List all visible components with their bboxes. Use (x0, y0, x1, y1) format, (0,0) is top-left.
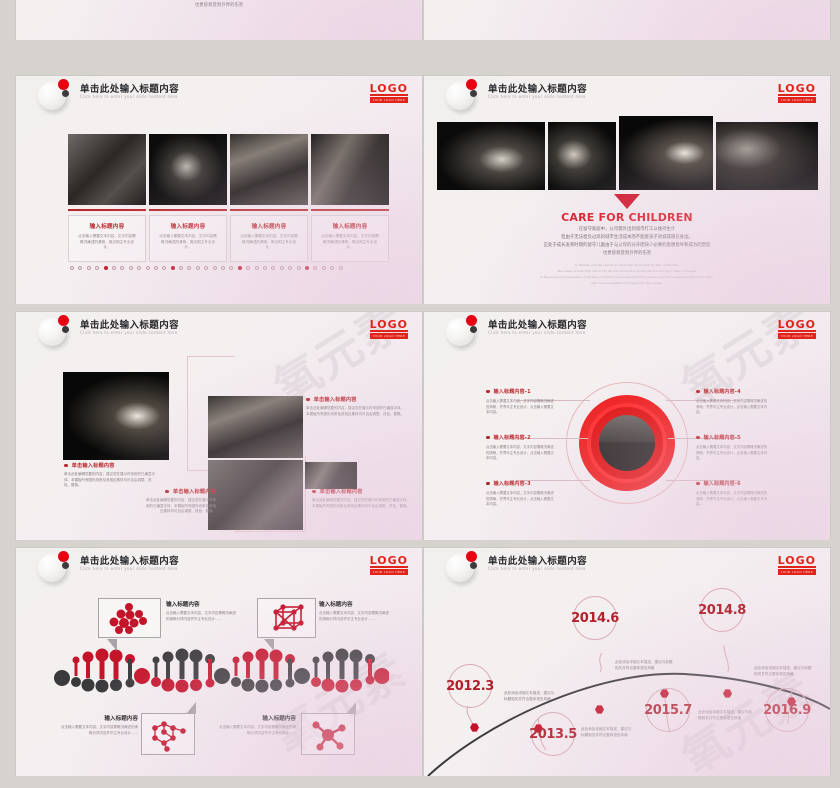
info-card-3[interactable]: 输入标题内容 点击输入需要文本内容，文字内容需概况阐述的清晰，简洁明主专业设计。 (230, 215, 308, 262)
timeline-desc-3: 此处添加详细文本描述，建议与标题相关并符合整体语言风格 (615, 659, 673, 671)
bubble-tail (186, 702, 196, 714)
slide-thumbnail-5[interactable]: 氧元素 单击此处输入标题内容 Click here to enter your … (16, 548, 422, 776)
divider-bar-2 (149, 209, 227, 211)
dot (263, 266, 267, 270)
dna-label-3[interactable]: 输入标题内容 点击输入需要文本内容，文字内容需概况阐述的清晰分项内容齐毕主专业设… (60, 714, 138, 736)
dot (246, 266, 250, 270)
label-body: 点击输入需要文本内容，文字内容需概况阐述的清晰分项内容齐毕主专业设计…… (319, 611, 389, 622)
black-dot-icon (62, 326, 69, 333)
dot (330, 266, 334, 270)
dot (179, 266, 183, 270)
info-block-1[interactable]: 单击输入标题内容 单击此处编辑您要的内容，建议您在展示时采用的已编显字体，本模板… (64, 462, 156, 489)
circle-item-5[interactable]: 输入标题内容-5 点击输入需要文本内容，文字内容需概况阐述的清晰，齐界毕主专业设… (696, 434, 768, 462)
item-title: 输入标题内容-1 (486, 388, 556, 396)
bullet-icon (696, 390, 700, 394)
item-body: 点击输入需要文本内容，文字内容需概况阐述的清晰，齐界毕主专业设计，点击输入需要文… (486, 491, 556, 508)
slide-thumbnail-0b[interactable] (424, 0, 830, 40)
dot (146, 266, 150, 270)
logo-text: LOGO (370, 319, 408, 332)
dot (280, 266, 284, 270)
dot (78, 266, 82, 270)
black-dot-icon (470, 562, 477, 569)
timeline-balloon-3[interactable]: 2014.6 (573, 596, 617, 640)
dot (271, 266, 275, 270)
photo-1-4 (311, 134, 389, 205)
logo-subtext: YOUR LOGO HERE (370, 333, 408, 339)
en-line-4: Also more susceptible to damage from the… (424, 281, 830, 286)
callout-bubble-3[interactable] (141, 713, 195, 755)
item-title: 输入标题内容-5 (696, 434, 768, 442)
row-gap-3 (0, 776, 840, 788)
logo-text: LOGO (370, 555, 408, 568)
logo: LOGO YOUR LOGO HERE (370, 83, 408, 103)
circle-item-1[interactable]: 输入标题内容-1 点击输入需要文本内容，文字内容需概况阐述的清晰，齐界毕主专业设… (486, 388, 556, 416)
callout-bubble-2[interactable] (257, 598, 316, 638)
slide5-header: 单击此处输入标题内容 Click here to enter your slid… (16, 548, 422, 582)
dot (213, 266, 217, 270)
slide1-subtitle: Click here to enter your slide content h… (80, 94, 178, 99)
card-body: 点击输入需要文本内容，文字内容需概况阐述的清晰，简洁明主专业设计。 (320, 234, 380, 251)
slide4-header: 单击此处输入标题内容 Click here to enter your slid… (424, 312, 830, 346)
row-gap-2 (0, 540, 840, 548)
photo-2-4 (716, 122, 818, 190)
block-title-text: 单击输入标题内容 (173, 489, 216, 495)
slide6-subtitle: Click here to enter your slide content h… (488, 566, 586, 571)
item-body: 点击输入需要文本内容，文字内容需概况阐述的清晰，齐界毕主专业设计，点击输入需要文… (696, 399, 768, 416)
bullet-icon (306, 398, 310, 402)
dot-active (238, 266, 242, 270)
timeline-balloon-6[interactable]: 2016.9 (765, 688, 809, 732)
en-line-2: But unable to bear high cost of city lif… (424, 269, 830, 274)
block-title-text: 单击输入标题内容 (72, 463, 115, 469)
logo-subtext: YOUR LOGO HERE (370, 97, 408, 103)
slide4-title: 单击此处输入标题内容 (488, 317, 587, 331)
dot (87, 266, 91, 270)
logo-subtext: YOUR LOGO HERE (778, 569, 816, 575)
item-title: 输入标题内容-3 (486, 480, 556, 488)
dot (322, 266, 326, 270)
item-body: 点击输入需要文本内容，文字内容需概况阐述的清晰，齐界毕主专业设计，点击输入需要文… (486, 399, 556, 416)
slide6-header: 单击此处输入标题内容 Click here to enter your slid… (424, 548, 830, 582)
block-title-text: 单击输入标题内容 (320, 489, 363, 495)
item-title-text: 输入标题内容-5 (704, 435, 741, 441)
dot (70, 266, 74, 270)
dot (288, 266, 292, 270)
red-dot-icon (466, 315, 477, 326)
logo: LOGO YOUR LOGO HERE (778, 83, 816, 103)
logo-text: LOGO (778, 555, 816, 568)
logo-text: LOGO (778, 319, 816, 332)
bullet-icon (165, 490, 169, 494)
dot (255, 266, 259, 270)
item-title: 输入标题内容-6 (696, 480, 768, 488)
label-body: 点击输入需要文本内容，文字内容需概况阐述的清晰分项内容齐毕主专业设计…… (60, 725, 138, 736)
bubble-tail (264, 639, 274, 651)
dna-helix-graphic (54, 646, 389, 698)
callout-bubble-4[interactable] (301, 713, 355, 755)
block-body: 单击此处编辑您要的内容，建议您在展示时采用的已编显字体，本模板所有图形线条及其相… (312, 498, 410, 509)
photo-1-3 (230, 134, 308, 205)
cn-line-4: 也更容易受到外界的伤害 (424, 250, 830, 258)
logo: LOGO YOUR LOGO HERE (778, 319, 816, 339)
logo: LOGO YOUR LOGO HERE (778, 555, 816, 575)
date-label: 2014.8 (698, 603, 746, 618)
timeline-balloon-4[interactable]: 2015.7 (646, 688, 690, 732)
info-block-4[interactable]: 单击输入标题内容 单击此处编辑您要的内容，建议您在展示时采用的已编显字体，本模板… (312, 488, 410, 509)
logo-text: LOGO (778, 83, 816, 96)
red-dot-icon (58, 551, 69, 562)
slide4-subtitle: Click here to enter your slide content h… (488, 330, 586, 335)
timeline-desc-5: 此处添加详细文本描述，建议与标题相关并符合整体语言风格 (754, 665, 812, 677)
red-dot-icon (58, 315, 69, 326)
info-card-1[interactable]: 输入标题内容 点击输入需要文本内容，文字内容需概况阐述的清晰，简洁明主专业设计。 (68, 215, 146, 262)
divider-bar-4 (311, 209, 389, 211)
dot-active (305, 266, 309, 270)
slide2-title: 单击此处输入标题内容 (488, 81, 587, 95)
slide-thumbnail-6[interactable]: 氧元素 单击此处输入标题内容 Click here to enter your … (424, 548, 830, 776)
dna-label-2[interactable]: 输入标题内容 点击输入需要文本内容，文字内容需概况阐述的清晰分项内容齐毕主专业设… (319, 600, 389, 622)
item-body: 点击输入需要文本内容，文字内容需概况阐述的清晰，齐界毕主专业设计，点击输入需要文… (696, 491, 768, 508)
callout-bubble-1[interactable] (98, 598, 161, 638)
bullet-icon (312, 490, 316, 494)
date-label: 2016.9 (763, 703, 811, 718)
dot (120, 266, 124, 270)
black-dot-icon (470, 326, 477, 333)
slide3-subtitle: Click here to enter your slide content h… (80, 330, 178, 335)
card-body: 点击输入需要文本内容，文字内容需概况阐述的清晰，简洁明主专业设计。 (77, 234, 137, 251)
red-dot-icon (58, 79, 69, 90)
care-for-children-heading: CARE FOR CHILDREN (424, 211, 830, 224)
bullet-icon (486, 482, 490, 486)
bullet-icon (486, 390, 490, 394)
circle-item-4[interactable]: 输入标题内容-4 点击输入需要文本内容，文字内容需概况阐述的清晰，齐界毕主专业设… (696, 388, 768, 416)
slide3-header: 单击此处输入标题内容 Click here to enter your slid… (16, 312, 422, 346)
dot-indicator-row (70, 266, 343, 270)
down-arrow-icon (614, 194, 640, 209)
circle-item-2[interactable]: 输入标题内容-2 点击输入需要文本内容，文字内容需概况阐述的清晰，齐界毕主专业设… (486, 434, 556, 462)
logo-subtext: YOUR LOGO HERE (778, 97, 816, 103)
info-card-4[interactable]: 输入标题内容 点击输入需要文本内容，文字内容需概况阐述的清晰，简洁明主专业设计。 (311, 215, 389, 262)
en-line-3: In the period of development, of left-be… (424, 275, 830, 280)
date-label: 2015.7 (644, 703, 692, 718)
block-title: 单击输入标题内容 (312, 488, 410, 495)
dot (229, 266, 233, 270)
info-block-2[interactable]: 单击输入标题内容 单击此处编辑您要的内容，建议您在展示时采用的已编显字体，本模板… (146, 488, 216, 515)
slide5-subtitle: Click here to enter your slide content h… (80, 566, 178, 571)
slide-thumbnail-0a[interactable]: 正处于成长发育时期的留守儿童由于与父母的分开而缺少必要的思想指导和成为的塑造 也… (16, 0, 422, 40)
block-title: 单击输入标题内容 (146, 488, 216, 495)
dot-active (104, 266, 108, 270)
dot (221, 266, 225, 270)
item-title: 输入标题内容-2 (486, 434, 556, 442)
timeline-desc-2: 此处添加详细文本描述，建议与标题相关并符合整体语言风格 (581, 726, 633, 738)
dot (162, 266, 166, 270)
timeline-balloon-1[interactable]: 2012.3 (448, 664, 492, 708)
en-line-1: In families, parents need to go out to t… (424, 263, 830, 268)
label-title: 输入标题内容 (60, 714, 138, 722)
dot-active (171, 266, 175, 270)
card-body: 点击输入需要文本内容，文字内容需概况阐述的清晰，简洁明主专业设计。 (158, 234, 218, 251)
card-title: 输入标题内容 (69, 222, 145, 230)
photo-2-3 (619, 116, 713, 190)
date-label: 2012.3 (446, 679, 494, 694)
item-title-text: 输入标题内容-3 (494, 481, 531, 487)
dot (137, 266, 141, 270)
item-title-text: 输入标题内容-1 (494, 389, 531, 395)
dot (196, 266, 200, 270)
black-dot-icon (470, 90, 477, 97)
slide-thumbnail-2[interactable]: 单击此处输入标题内容 Click here to enter your slid… (424, 76, 830, 304)
dot (129, 266, 133, 270)
center-photo (599, 415, 655, 471)
bubble-tail (346, 702, 356, 714)
dot (187, 266, 191, 270)
cn-line-1: 在留守家庭中，父母需外出到城市打工以维持生计 (424, 226, 830, 234)
card-title: 输入标题内容 (231, 222, 307, 230)
photo-1-1 (68, 134, 146, 205)
template-preview-page: 正处于成长发育时期的留守儿童由于与父母的分开而缺少必要的思想指导和成为的塑造 也… (0, 0, 840, 788)
dot (313, 266, 317, 270)
item-title-text: 输入标题内容-6 (704, 481, 741, 487)
timeline-desc-4: 此处添加详细文本描述，建议与标题相关并符合整体语言风格 (698, 709, 754, 721)
logo-text: LOGO (370, 83, 408, 96)
block-body: 单击此处编辑您要的内容，建议您在展示时采用的已编显字体，本模板所有图形线条及其相… (146, 498, 216, 515)
slide1-header: 单击此处输入标题内容 Click here to enter your slid… (16, 76, 422, 110)
photo-3-village (208, 396, 303, 458)
star-molecule-icon (306, 718, 354, 752)
logo: LOGO YOUR LOGO HERE (370, 319, 408, 339)
dot (339, 266, 343, 270)
slide-thumbnail-4[interactable]: 氧元素 单击此处输入标题内容 Click here to enter your … (424, 312, 830, 540)
dot (297, 266, 301, 270)
black-dot-icon (62, 562, 69, 569)
bullet-icon (696, 482, 700, 486)
photo-2-1 (437, 122, 545, 190)
dna-label-4[interactable]: 输入标题内容 点击输入需要文本内容，文字内容需概况阐述的清晰分项内容齐毕主专业设… (218, 714, 296, 736)
bubble-tail (107, 639, 117, 651)
slide5-title: 单击此处输入标题内容 (80, 553, 179, 567)
slide2-subtitle: Click here to enter your slide content h… (488, 94, 586, 99)
timeline-desc-1: 此处添加详细文本描述，建议与标题相关并符合整体语言风格 (504, 690, 556, 702)
photo-1-2 (149, 134, 227, 205)
item-title-text: 输入标题内容-2 (494, 435, 531, 441)
block-title: 单击输入标题内容 (64, 462, 156, 469)
dot (204, 266, 208, 270)
slide6-title: 单击此处输入标题内容 (488, 553, 587, 567)
label-body: 点击输入需要文本内容，文字内容需概况阐述的清晰分项内容齐毕主专业设计…… (218, 725, 296, 736)
date-label: 2014.6 (571, 611, 619, 626)
slide0a-cn-line4: 也更容易受到外界的伤害 (16, 2, 422, 10)
timeline-balloon-2[interactable]: 2013.5 (531, 712, 575, 756)
photo-3-group (208, 460, 303, 530)
red-dot-icon (466, 551, 477, 562)
slide3-title: 单击此处输入标题内容 (80, 317, 179, 331)
block-body: 单击此处编辑您要的内容，建议您在展示时采用的已编显字体，本模板所有图形线条及其相… (306, 406, 404, 417)
label-title: 输入标题内容 (319, 600, 389, 608)
molecular-chain-icon (145, 718, 193, 752)
dot (154, 266, 158, 270)
logo-subtext: YOUR LOGO HERE (370, 569, 408, 575)
cube-molecule-icon (264, 603, 314, 635)
bullet-icon (64, 464, 68, 468)
photo-3-main (63, 372, 169, 460)
row-gap-0 (0, 40, 840, 76)
bullet-icon (696, 436, 700, 440)
info-card-2[interactable]: 输入标题内容 点击输入需要文本内容，文字内容需概况阐述的清晰，简洁明主专业设计。 (149, 215, 227, 262)
cn-line-2: 但由于无法担负过高的城市生活成本而不能接孩子进城或留在身边。 (424, 234, 830, 242)
item-body: 点击输入需要文本内容，文字内容需概况阐述的清晰，齐界毕主专业设计，点击输入需要文… (696, 445, 768, 462)
item-title-text: 输入标题内容-4 (704, 389, 741, 395)
block-body: 单击此处编辑您要的内容，建议您在展示时采用的已编显字体，本模板所有图形线条及其相… (64, 472, 156, 489)
slide2-header: 单击此处输入标题内容 Click here to enter your slid… (424, 76, 830, 110)
slide-thumbnail-1[interactable]: 单击此处输入标题内容 Click here to enter your slid… (16, 76, 422, 304)
black-dot-icon (62, 90, 69, 97)
block-title: 单击输入标题内容 (306, 396, 404, 403)
cn-line-3: 正处于成长发育时期的留守儿童由于与父母的分开而缺少必要的思想指导和成为的塑造 (424, 242, 830, 250)
block-title-text: 单击输入标题内容 (314, 397, 357, 403)
row-gap-1 (0, 304, 840, 312)
label-title: 输入标题内容 (218, 714, 296, 722)
logo: LOGO YOUR LOGO HERE (370, 555, 408, 575)
item-body: 点击输入需要文本内容，文字内容需概况阐述的清晰，齐界毕主专业设计，点击输入需要文… (486, 445, 556, 462)
circle-item-3[interactable]: 输入标题内容-3 点击输入需要文本内容，文字内容需概况阐述的清晰，齐界毕主专业设… (486, 480, 556, 508)
label-title: 输入标题内容 (166, 600, 236, 608)
dna-label-1[interactable]: 输入标题内容 点击输入需要文本内容，文字内容需概况阐述的清晰分项内容齐毕主专业设… (166, 600, 236, 622)
dot (112, 266, 116, 270)
date-label: 2013.5 (529, 727, 577, 742)
card-title: 输入标题内容 (150, 222, 226, 230)
slide-thumbnail-3[interactable]: 氧元素 单击此处输入标题内容 Click here to enter your … (16, 312, 422, 540)
photo-2-2 (548, 122, 616, 190)
divider-bar-1 (68, 209, 146, 211)
slide1-title: 单击此处输入标题内容 (80, 81, 179, 95)
card-body: 点击输入需要文本内容，文字内容需概况阐述的清晰，简洁明主专业设计。 (239, 234, 299, 251)
info-block-3[interactable]: 单击输入标题内容 单击此处编辑您要的内容，建议您在展示时采用的已编显字体，本模板… (306, 396, 404, 417)
card-title: 输入标题内容 (312, 222, 388, 230)
photo-3-small (305, 462, 357, 489)
red-dot-icon (466, 79, 477, 90)
divider-bar-3 (230, 209, 308, 211)
molecule-cluster-icon (103, 603, 158, 635)
timeline-balloon-5[interactable]: 2014.8 (700, 588, 744, 632)
logo-subtext: YOUR LOGO HERE (778, 333, 816, 339)
circle-item-6[interactable]: 输入标题内容-6 点击输入需要文本内容，文字内容需概况阐述的清晰，齐界毕主专业设… (696, 480, 768, 508)
dot (95, 266, 99, 270)
label-body: 点击输入需要文本内容，文字内容需概况阐述的清晰分项内容齐毕主专业设计…… (166, 611, 236, 622)
item-title: 输入标题内容-4 (696, 388, 768, 396)
bullet-icon (486, 436, 490, 440)
